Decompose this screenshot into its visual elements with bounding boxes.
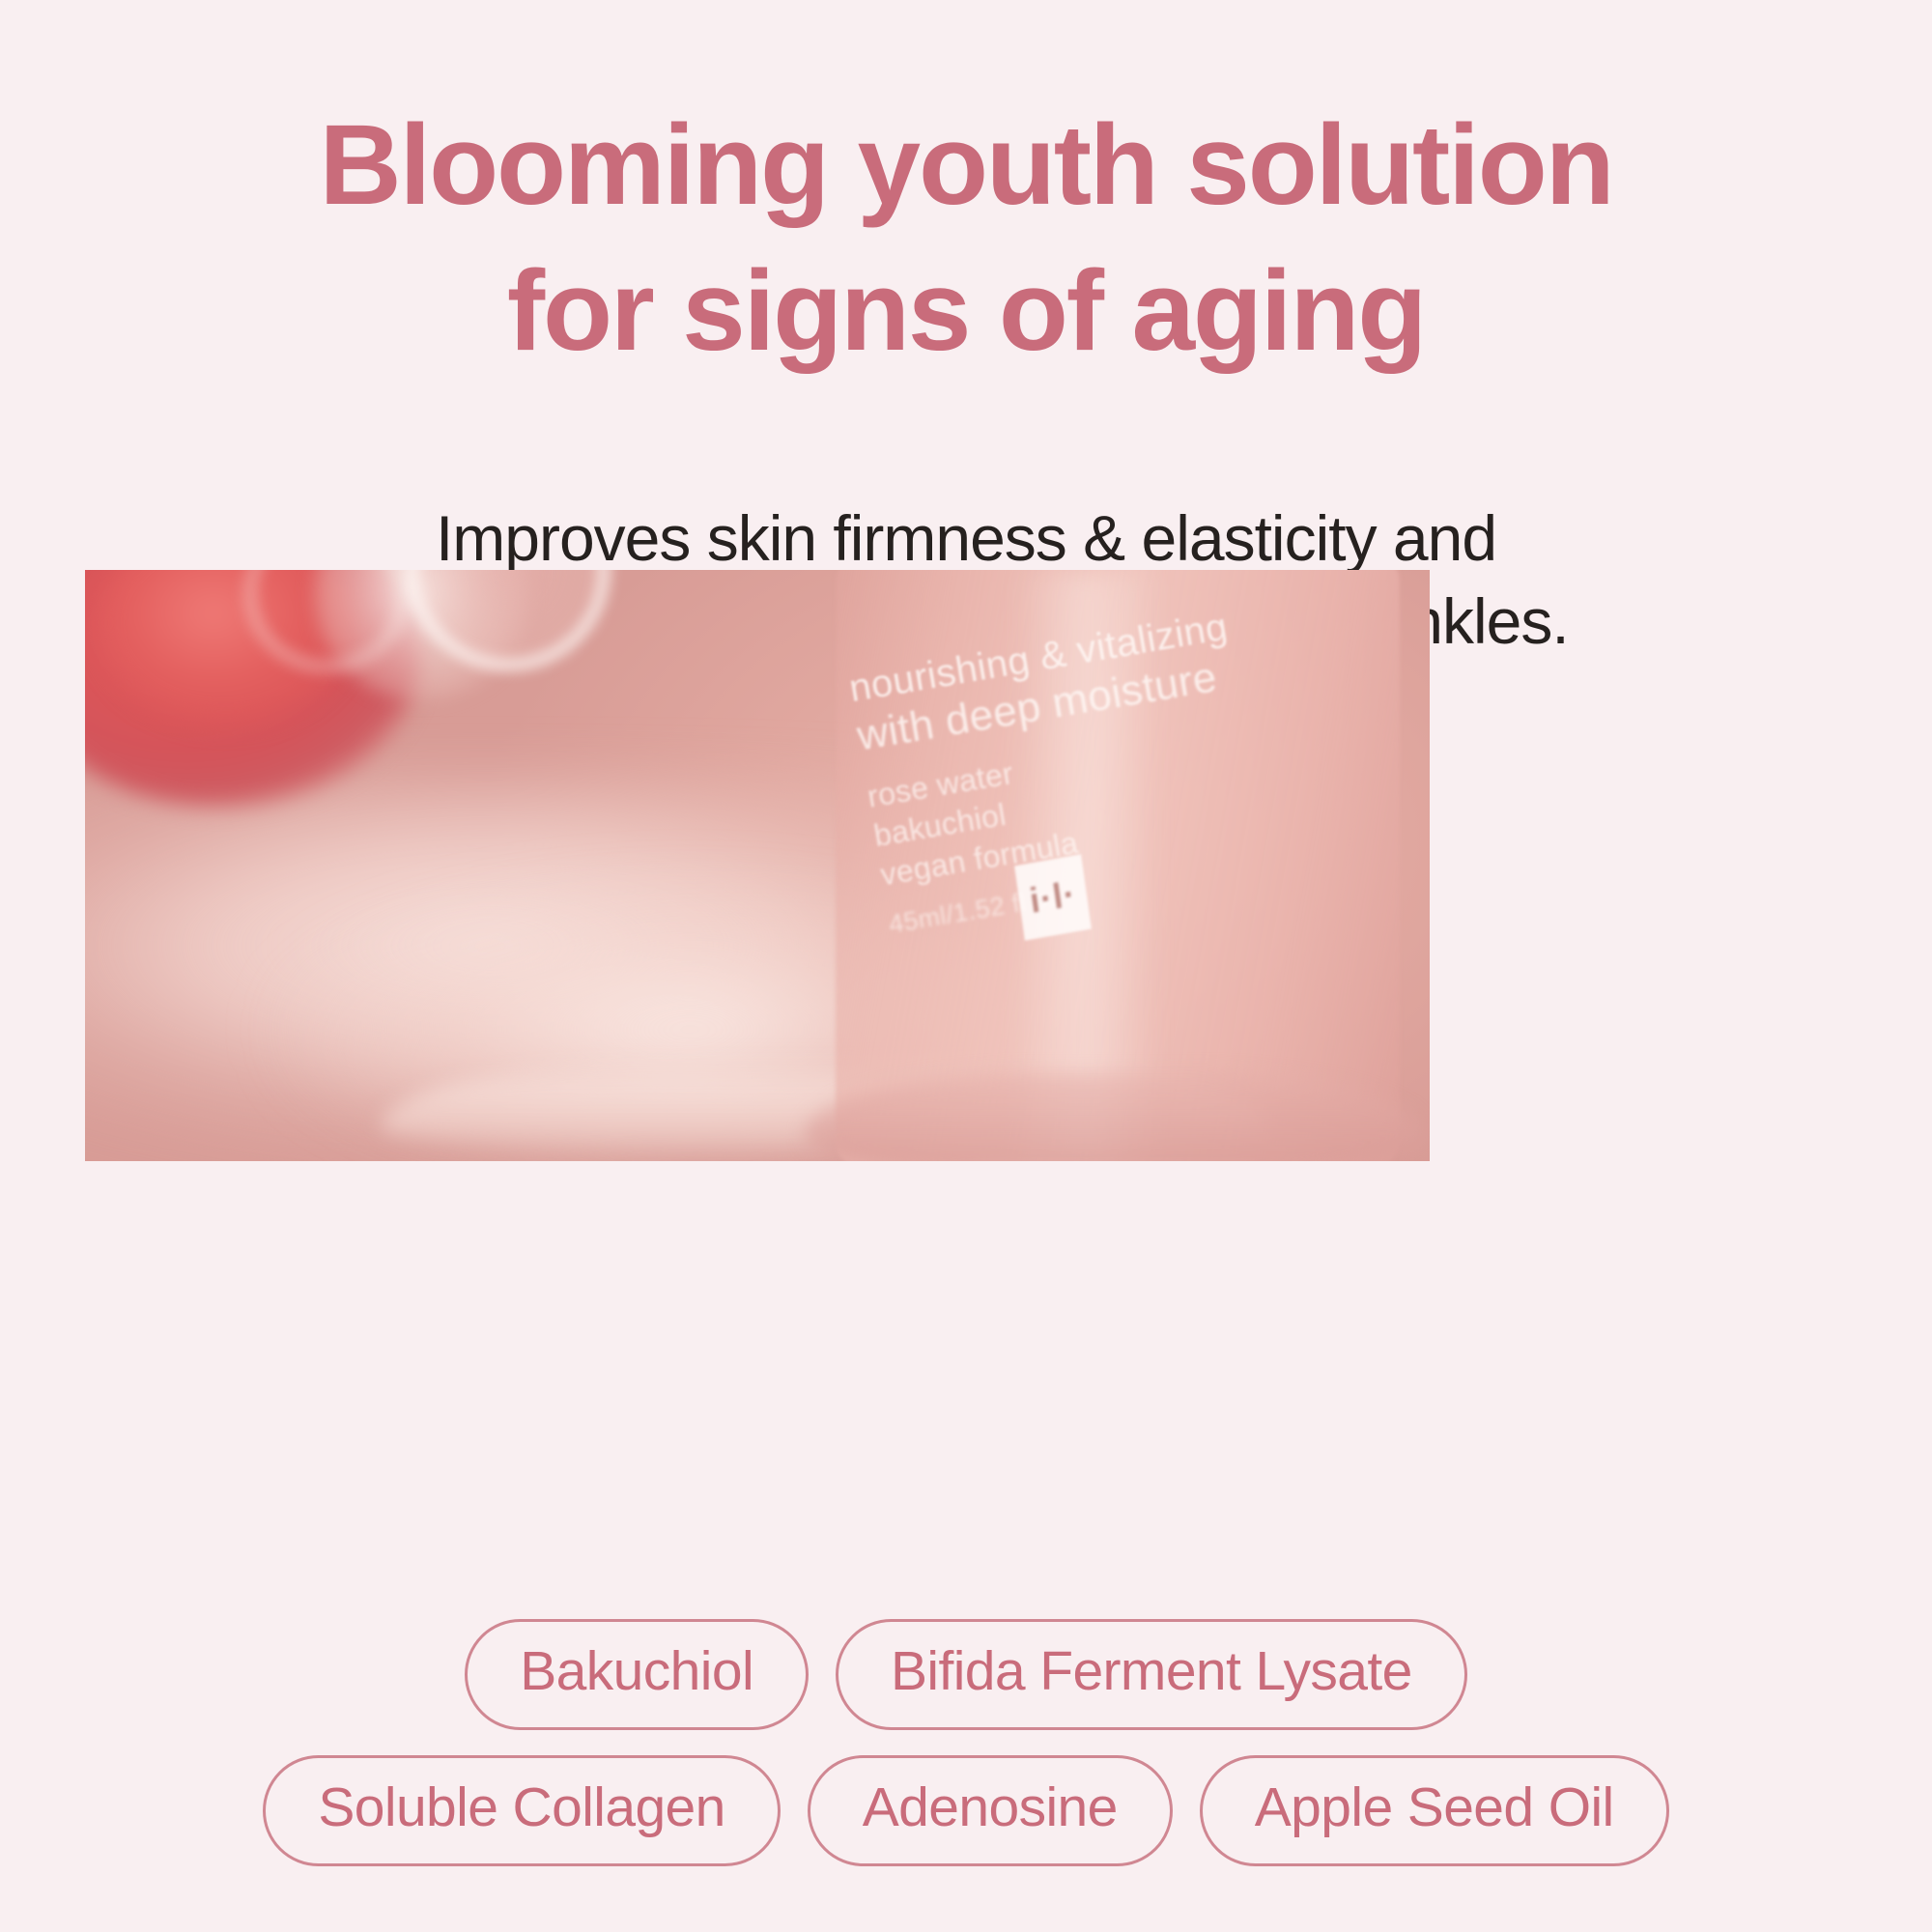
brand-logo: i·l· xyxy=(1014,854,1092,940)
ingredient-pill-group: Bakuchiol Bifida Ferment Lysate Soluble … xyxy=(0,1619,1932,1891)
brand-mark-glyph: i·l· xyxy=(1028,876,1078,919)
bottle-base xyxy=(805,1072,1423,1161)
ingredient-pill-apple-seed-oil[interactable]: Apple Seed Oil xyxy=(1200,1755,1669,1866)
subtitle-line-1: Improves skin firmness & elasticity and xyxy=(0,497,1932,581)
ingredient-pill-bakuchiol[interactable]: Bakuchiol xyxy=(465,1619,809,1730)
ingredient-row-2: Soluble Collagen Adenosine Apple Seed Oi… xyxy=(0,1755,1932,1866)
page-title: Blooming youth solution for signs of agi… xyxy=(0,93,1932,384)
product-photo: nourishing & vitalizing with deep moistu… xyxy=(85,570,1430,1161)
headline-line-2: for signs of aging xyxy=(0,239,1932,384)
headline-line-1: Blooming youth solution xyxy=(0,93,1932,239)
promo-card: Blooming youth solution for signs of agi… xyxy=(0,0,1932,1932)
ingredient-pill-soluble-collagen[interactable]: Soluble Collagen xyxy=(263,1755,780,1866)
ingredient-pill-bifida-ferment-lysate[interactable]: Bifida Ferment Lysate xyxy=(836,1619,1467,1730)
ingredient-row-1: Bakuchiol Bifida Ferment Lysate xyxy=(0,1619,1932,1730)
ingredient-pill-adenosine[interactable]: Adenosine xyxy=(808,1755,1173,1866)
